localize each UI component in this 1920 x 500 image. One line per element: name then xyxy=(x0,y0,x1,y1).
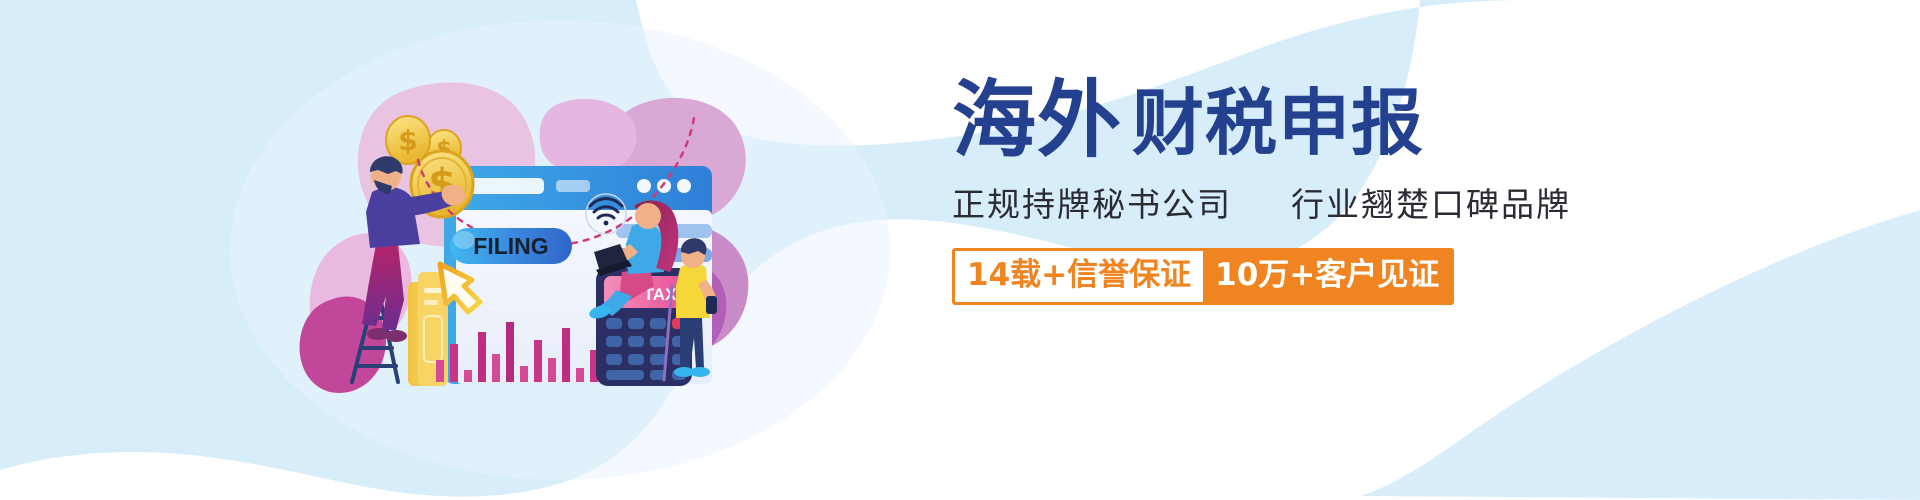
page-title: 海外 财税申报 xyxy=(952,78,1672,162)
badge-group: 14载+信誉保证 10万+客户见证 xyxy=(952,248,1454,305)
subtitle: 正规持牌秘书公司 行业翘楚口碑品牌 xyxy=(952,178,1672,226)
headline-main: 海外 xyxy=(952,78,1122,162)
subtitle-right: 行业翘楚口碑品牌 xyxy=(1291,185,1571,224)
headline-accent: 财税申报 xyxy=(1132,87,1424,162)
promo-banner: $ $ $ xyxy=(0,0,1920,500)
status-badge-clients: 10万+客户见证 xyxy=(1203,251,1451,302)
browser-dots xyxy=(637,179,691,193)
status-badge-tenure: 14载+信誉保证 xyxy=(955,251,1203,302)
svg-text:$: $ xyxy=(398,124,417,157)
subtitle-left: 正规持牌秘书公司 xyxy=(952,185,1232,224)
copy-block: 海外 财税申报 正规持牌秘书公司 行业翘楚口碑品牌 14载+信誉保证 10万+客… xyxy=(952,78,1672,305)
filing-button: FILING xyxy=(450,228,572,264)
filing-button-label: FILING xyxy=(473,233,548,259)
